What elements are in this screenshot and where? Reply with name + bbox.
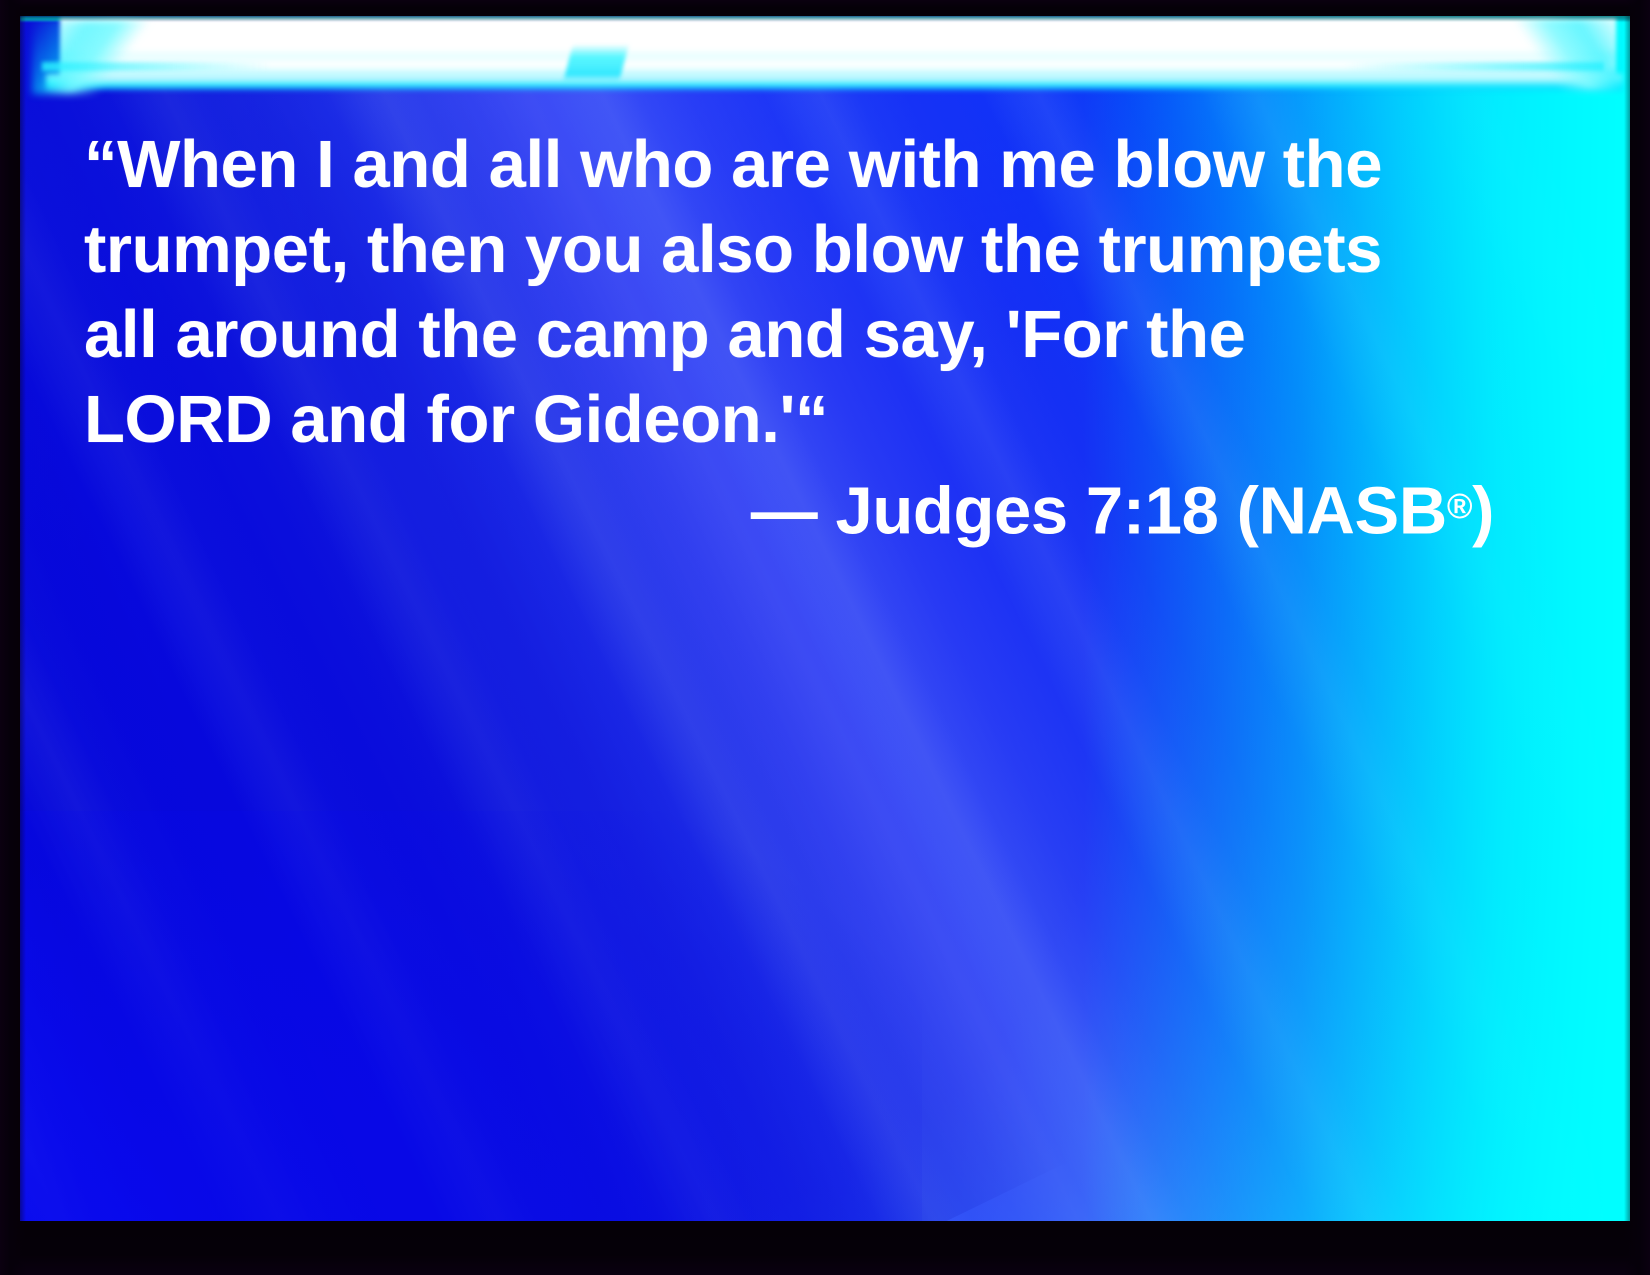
verse-text-block: “When I and all who are with me blow the… (84, 122, 1504, 462)
verse-line-2: trumpet, then you also blow the trumpets (84, 207, 1504, 292)
registered-trademark-icon: ® (1447, 487, 1472, 526)
verse-line-3: all around the camp and say, 'For the (84, 292, 1504, 377)
verse-attribution: — Judges 7:18 (NASB®) (84, 464, 1494, 554)
attribution-spacer-2 (1218, 474, 1236, 549)
background-bottom-left-shade (20, 811, 922, 1221)
verse-line-1: “When I and all who are with me blow the (84, 122, 1504, 207)
translation-open-paren: (NASB (1237, 474, 1447, 549)
verse-line-4: LORD and for Gideon.'“ (84, 377, 1504, 462)
verse-reference: Judges 7:18 (836, 474, 1219, 549)
em-dash: — (751, 474, 818, 549)
translation-close-paren: ) (1472, 474, 1494, 549)
verse-slide: “When I and all who are with me blow the… (0, 0, 1650, 1275)
attribution-spacer-1 (817, 474, 835, 549)
